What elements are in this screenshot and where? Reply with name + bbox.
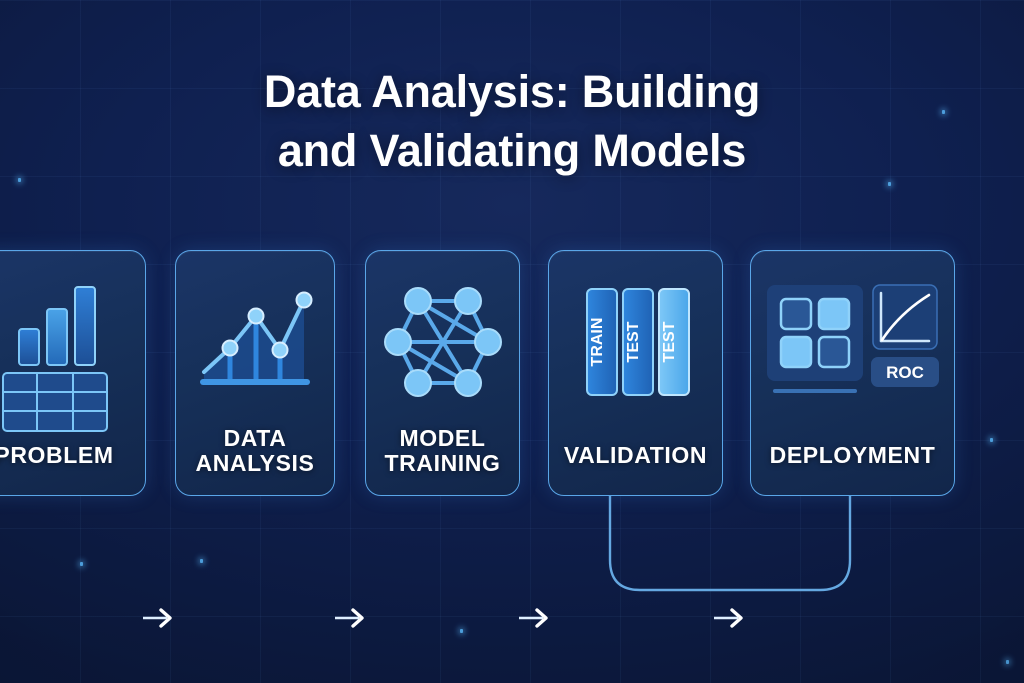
pipeline-step-label-line-1: MODEL	[366, 426, 519, 452]
pipeline-step-data-analysis[interactable]: DATA ANALYSIS	[175, 250, 335, 496]
split-label-1: TEST	[625, 321, 642, 362]
pipeline-arrow-data-analysis-to-model-training	[335, 605, 371, 631]
roc-label: ROC	[886, 363, 924, 382]
title-line-1: Data Analysis: Building	[0, 62, 1024, 121]
neural-network-icon	[384, 283, 502, 401]
pipeline-step-problem[interactable]: PROBLEM	[0, 250, 146, 496]
page-title: Data Analysis: Building and Validating M…	[0, 62, 1024, 181]
pipeline-arrow-model-training-to-validation	[519, 605, 555, 631]
background-particle	[888, 182, 891, 186]
pipeline-arrow-problem-to-data-analysis	[143, 605, 179, 631]
pipeline-step-label: MODEL TRAINING	[366, 426, 519, 478]
confusion-matrix-and-roc-icon: ROC	[765, 283, 940, 401]
background-particle	[460, 629, 463, 633]
split-label-0: TRAIN	[589, 318, 606, 367]
pipeline-step-label: DATA ANALYSIS	[176, 426, 334, 478]
infographic-canvas: Data Analysis: Building and Validating M…	[0, 0, 1024, 683]
title-line-2: and Validating Models	[0, 121, 1024, 180]
pipeline: PROBLEM	[0, 250, 1024, 496]
pipeline-step-deployment[interactable]: ROC DEPLOYMENT	[750, 250, 955, 496]
pipeline-step-label-line-2: TRAINING	[366, 451, 519, 477]
matrix-cell-tl	[781, 299, 811, 329]
pipeline-step-label-line-2: ANALYSIS	[176, 451, 334, 477]
line-chart-icon	[196, 283, 314, 401]
matrix-cell-br	[819, 337, 849, 367]
pipeline-step-validation[interactable]: TRAIN TEST TEST VALIDATION	[548, 250, 723, 496]
background-particle	[1006, 660, 1009, 664]
pipeline-step-label-line-1: DATA	[176, 426, 334, 452]
pipeline-step-label: PROBLEM	[0, 443, 145, 469]
background-particle	[80, 562, 83, 566]
matrix-cell-tr	[819, 299, 849, 329]
pipeline-step-label: VALIDATION	[549, 443, 722, 469]
pipeline-step-label: DEPLOYMENT	[751, 443, 954, 469]
background-particle	[200, 559, 203, 563]
matrix-cell-bl	[781, 337, 811, 367]
train-test-split-icon: TRAIN TEST TEST	[571, 283, 701, 401]
pipeline-step-model-training[interactable]: MODEL TRAINING	[365, 250, 520, 496]
bar-chart-and-table-icon	[0, 283, 119, 401]
pipeline-arrow-validation-to-deployment	[714, 605, 750, 631]
split-label-2: TEST	[661, 321, 678, 362]
